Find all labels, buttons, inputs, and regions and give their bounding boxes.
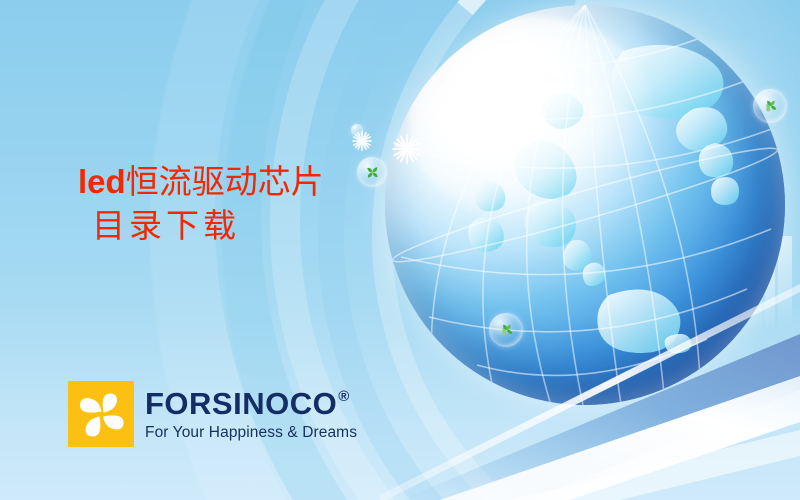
logo-text-block: FORSINOCO® For Your Happiness & Dreams — [145, 388, 357, 441]
forsinoco-pinwheel-mark — [68, 381, 134, 447]
bubble-edge-right — [753, 89, 787, 123]
registered-trademark-icon: ® — [338, 389, 350, 404]
bubble-small-upper — [351, 124, 363, 136]
headline: led恒流驱动芯片 目录下载 — [78, 160, 408, 247]
world-globe — [385, 5, 785, 405]
logo-wordmark-text: FORSINOCO — [145, 388, 337, 419]
promo-banner: led恒流驱动芯片 目录下载 FORSINOCO® For Your Happi… — [0, 0, 800, 500]
logo-tagline: For Your Happiness & Dreams — [145, 425, 357, 441]
green-sprout-icon — [497, 321, 515, 339]
company-logo: FORSINOCO® For Your Happiness & Dreams — [68, 381, 357, 447]
headline-cjk-text: 恒流驱动芯片 — [126, 162, 324, 201]
headline-line-2: 目录下载 — [92, 204, 408, 248]
bubble-sprout-lower — [489, 313, 523, 347]
headline-latin-prefix: led — [78, 163, 126, 200]
pinwheel-petals-icon — [68, 381, 134, 447]
logo-wordmark: FORSINOCO® — [145, 388, 357, 419]
headline-line-1: led恒流驱动芯片 — [78, 160, 408, 204]
green-sprout-icon — [761, 97, 779, 115]
